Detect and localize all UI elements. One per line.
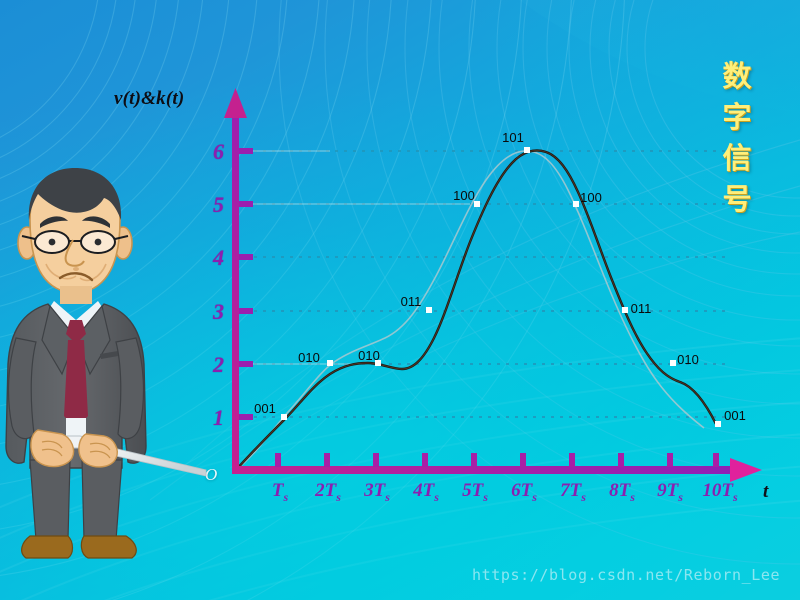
y-tick bbox=[239, 414, 253, 420]
x-axis-title: t bbox=[763, 481, 768, 503]
x-tick-num: 3 bbox=[364, 480, 374, 501]
x-tick-label-9: 9Ts bbox=[657, 480, 683, 505]
code-label-1: 001 bbox=[254, 401, 276, 416]
x-tick-label-10: 10Ts bbox=[702, 480, 737, 505]
sample-markers bbox=[281, 147, 721, 427]
x-tick-num: 6 bbox=[511, 480, 521, 501]
y-tick bbox=[239, 201, 253, 207]
eye-left bbox=[49, 239, 56, 246]
x-tick-sub: s bbox=[385, 490, 390, 504]
x-tick-sub: s bbox=[483, 490, 488, 504]
x-tick-unit: T bbox=[570, 480, 582, 501]
x-tick-num: 10 bbox=[702, 480, 721, 501]
hand-right bbox=[79, 434, 117, 467]
x-tick-label-2: 2Ts bbox=[315, 480, 341, 505]
sample-marker bbox=[426, 307, 432, 313]
shoe-right bbox=[81, 536, 136, 558]
shoe-left bbox=[22, 536, 73, 558]
x-tick-sub: s bbox=[581, 490, 586, 504]
x-tick-unit: T bbox=[619, 480, 631, 501]
x-tick-num: 4 bbox=[413, 480, 423, 501]
professor-body bbox=[6, 304, 146, 558]
x-tick bbox=[569, 453, 575, 467]
sample-marker bbox=[670, 360, 676, 366]
x-tick-label-6: 6Ts bbox=[511, 480, 537, 505]
x-tick bbox=[618, 453, 624, 467]
x-tick-label-5: 5Ts bbox=[462, 480, 488, 505]
watermark: https://blog.csdn.net/Reborn_Lee bbox=[472, 566, 780, 584]
x-tick-unit: T bbox=[374, 480, 386, 501]
x-tick-num: 7 bbox=[560, 480, 570, 501]
x-tick-num: 5 bbox=[462, 480, 472, 501]
code-label-6: 101 bbox=[502, 130, 524, 145]
y-tick-label-6: 6 bbox=[198, 139, 224, 165]
x-tick-num: 2 bbox=[315, 480, 325, 501]
x-tick bbox=[373, 453, 379, 467]
eye-right bbox=[95, 239, 102, 246]
x-tick-label-8: 8Ts bbox=[609, 480, 635, 505]
x-tick bbox=[422, 453, 428, 467]
x-tick-sub: s bbox=[336, 490, 341, 504]
x-tick-unit: T bbox=[667, 480, 679, 501]
x-tick-unit: T bbox=[325, 480, 337, 501]
x-tick-label-4: 4Ts bbox=[413, 480, 439, 505]
x-tick-label-7: 7Ts bbox=[560, 480, 586, 505]
x-tick-sub: s bbox=[532, 490, 537, 504]
code-label-8: 011 bbox=[631, 301, 652, 316]
y-axis bbox=[224, 88, 253, 472]
code-label-9: 010 bbox=[677, 352, 699, 367]
x-tick bbox=[667, 453, 673, 467]
code-label-2: 010 bbox=[298, 350, 320, 365]
leg-right bbox=[82, 460, 122, 540]
slide-canvas: 数 字 信 号 bbox=[0, 0, 800, 600]
x-tick bbox=[520, 453, 526, 467]
x-tick bbox=[471, 453, 477, 467]
x-tick-unit: T bbox=[423, 480, 435, 501]
sample-marker bbox=[327, 360, 333, 366]
sample-marker bbox=[622, 307, 628, 313]
x-tick-sub: s bbox=[434, 490, 439, 504]
sample-marker bbox=[573, 201, 579, 207]
x-tick-label-3: 3Ts bbox=[364, 480, 390, 505]
x-tick-sub: s bbox=[733, 490, 738, 504]
x-tick-unit: T bbox=[521, 480, 533, 501]
x-tick-sub: s bbox=[678, 490, 683, 504]
x-axis bbox=[232, 453, 762, 482]
x-tick-sub: s bbox=[630, 490, 635, 504]
sample-marker bbox=[524, 147, 530, 153]
x-tick-unit: T bbox=[721, 480, 733, 501]
code-label-3: 010 bbox=[358, 348, 380, 363]
neck bbox=[60, 286, 92, 304]
sample-marker bbox=[281, 414, 287, 420]
x-tick bbox=[275, 453, 281, 467]
x-tick-label-1: Ts bbox=[272, 480, 288, 505]
x-tick-unit: T bbox=[472, 480, 484, 501]
code-label-7: 100 bbox=[580, 190, 602, 205]
code-label-4: 011 bbox=[401, 294, 422, 309]
gridlines bbox=[236, 151, 730, 417]
x-tick-sub: s bbox=[283, 490, 288, 504]
x-tick-num: 8 bbox=[609, 480, 619, 501]
professor-illustration bbox=[0, 168, 220, 580]
code-label-10: 001 bbox=[724, 408, 746, 423]
y-tick bbox=[239, 148, 253, 154]
x-tick bbox=[713, 453, 719, 467]
x-tick-num: 9 bbox=[657, 480, 667, 501]
tie bbox=[64, 340, 88, 430]
y-tick bbox=[239, 361, 253, 367]
y-tick bbox=[239, 308, 253, 314]
code-label-5: 100 bbox=[453, 188, 475, 203]
leg-left bbox=[30, 460, 70, 540]
professor-head bbox=[18, 168, 132, 293]
sample-marker bbox=[474, 201, 480, 207]
x-tick bbox=[324, 453, 330, 467]
x-tick-unit: T bbox=[272, 480, 284, 501]
y-tick bbox=[239, 254, 253, 260]
y-axis-title: v(t)&k(t) bbox=[114, 88, 184, 110]
sample-marker bbox=[715, 421, 721, 427]
